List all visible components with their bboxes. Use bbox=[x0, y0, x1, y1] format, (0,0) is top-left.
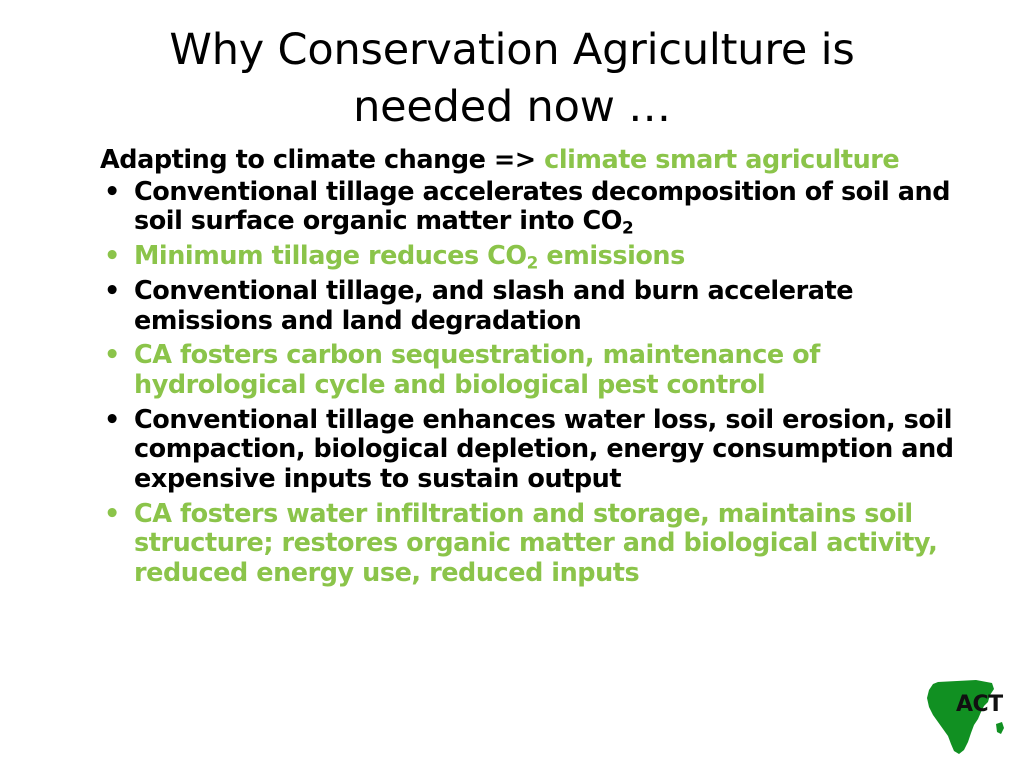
bullet-icon: • bbox=[104, 242, 124, 272]
list-item: • Conventional tillage enhances water lo… bbox=[96, 406, 976, 495]
page-title-line-1: Why Conservation Agriculture is bbox=[60, 22, 964, 79]
body-intro-prefix: Adapting to climate change => bbox=[100, 145, 544, 175]
list-item: • Conventional tillage accelerates decom… bbox=[96, 178, 976, 237]
list-item-text-tail: emissions bbox=[538, 241, 685, 271]
page-title-line-2: needed now … bbox=[60, 79, 964, 136]
list-item-text: Conventional tillage, and slash and burn… bbox=[134, 276, 853, 336]
list-item-text-main: Minimum tillage reduces CO bbox=[134, 241, 527, 271]
page-title: Why Conservation Agriculture is needed n… bbox=[60, 22, 964, 136]
logo-acronym: ACT bbox=[956, 692, 1003, 717]
subscript-2: 2 bbox=[527, 252, 538, 272]
list-item-text: Conventional tillage accelerates decompo… bbox=[134, 177, 950, 237]
slide-canvas: Why Conservation Agriculture is needed n… bbox=[0, 0, 1024, 768]
list-item: • CA fosters carbon sequestration, maint… bbox=[96, 341, 976, 400]
list-item: • Conventional tillage, and slash and bu… bbox=[96, 277, 976, 336]
bullet-icon: • bbox=[104, 277, 124, 307]
subscript-2: 2 bbox=[622, 218, 633, 238]
act-africa-logo: ACT bbox=[918, 672, 1016, 762]
africa-continent-icon bbox=[918, 672, 1016, 762]
list-item: • Minimum tillage reduces CO2 emissions bbox=[96, 242, 976, 272]
bullet-icon: • bbox=[104, 406, 124, 436]
body-intro-highlight: climate smart agriculture bbox=[544, 145, 899, 175]
list-item-text: CA fosters water infiltration and storag… bbox=[134, 499, 937, 588]
body-intro-line: Adapting to climate change => climate sm… bbox=[96, 146, 976, 176]
list-item-text-main: Conventional tillage accelerates decompo… bbox=[134, 177, 950, 237]
bullet-icon: • bbox=[104, 178, 124, 208]
list-item-text: CA fosters carbon sequestration, mainten… bbox=[134, 340, 820, 400]
bullet-icon: • bbox=[104, 341, 124, 371]
list-item: • CA fosters water infiltration and stor… bbox=[96, 500, 976, 589]
list-item-text: Conventional tillage enhances water loss… bbox=[134, 405, 954, 494]
list-item-text: Minimum tillage reduces CO2 emissions bbox=[134, 241, 685, 271]
bullet-icon: • bbox=[104, 500, 124, 530]
slide-body: Adapting to climate change => climate sm… bbox=[96, 146, 976, 591]
